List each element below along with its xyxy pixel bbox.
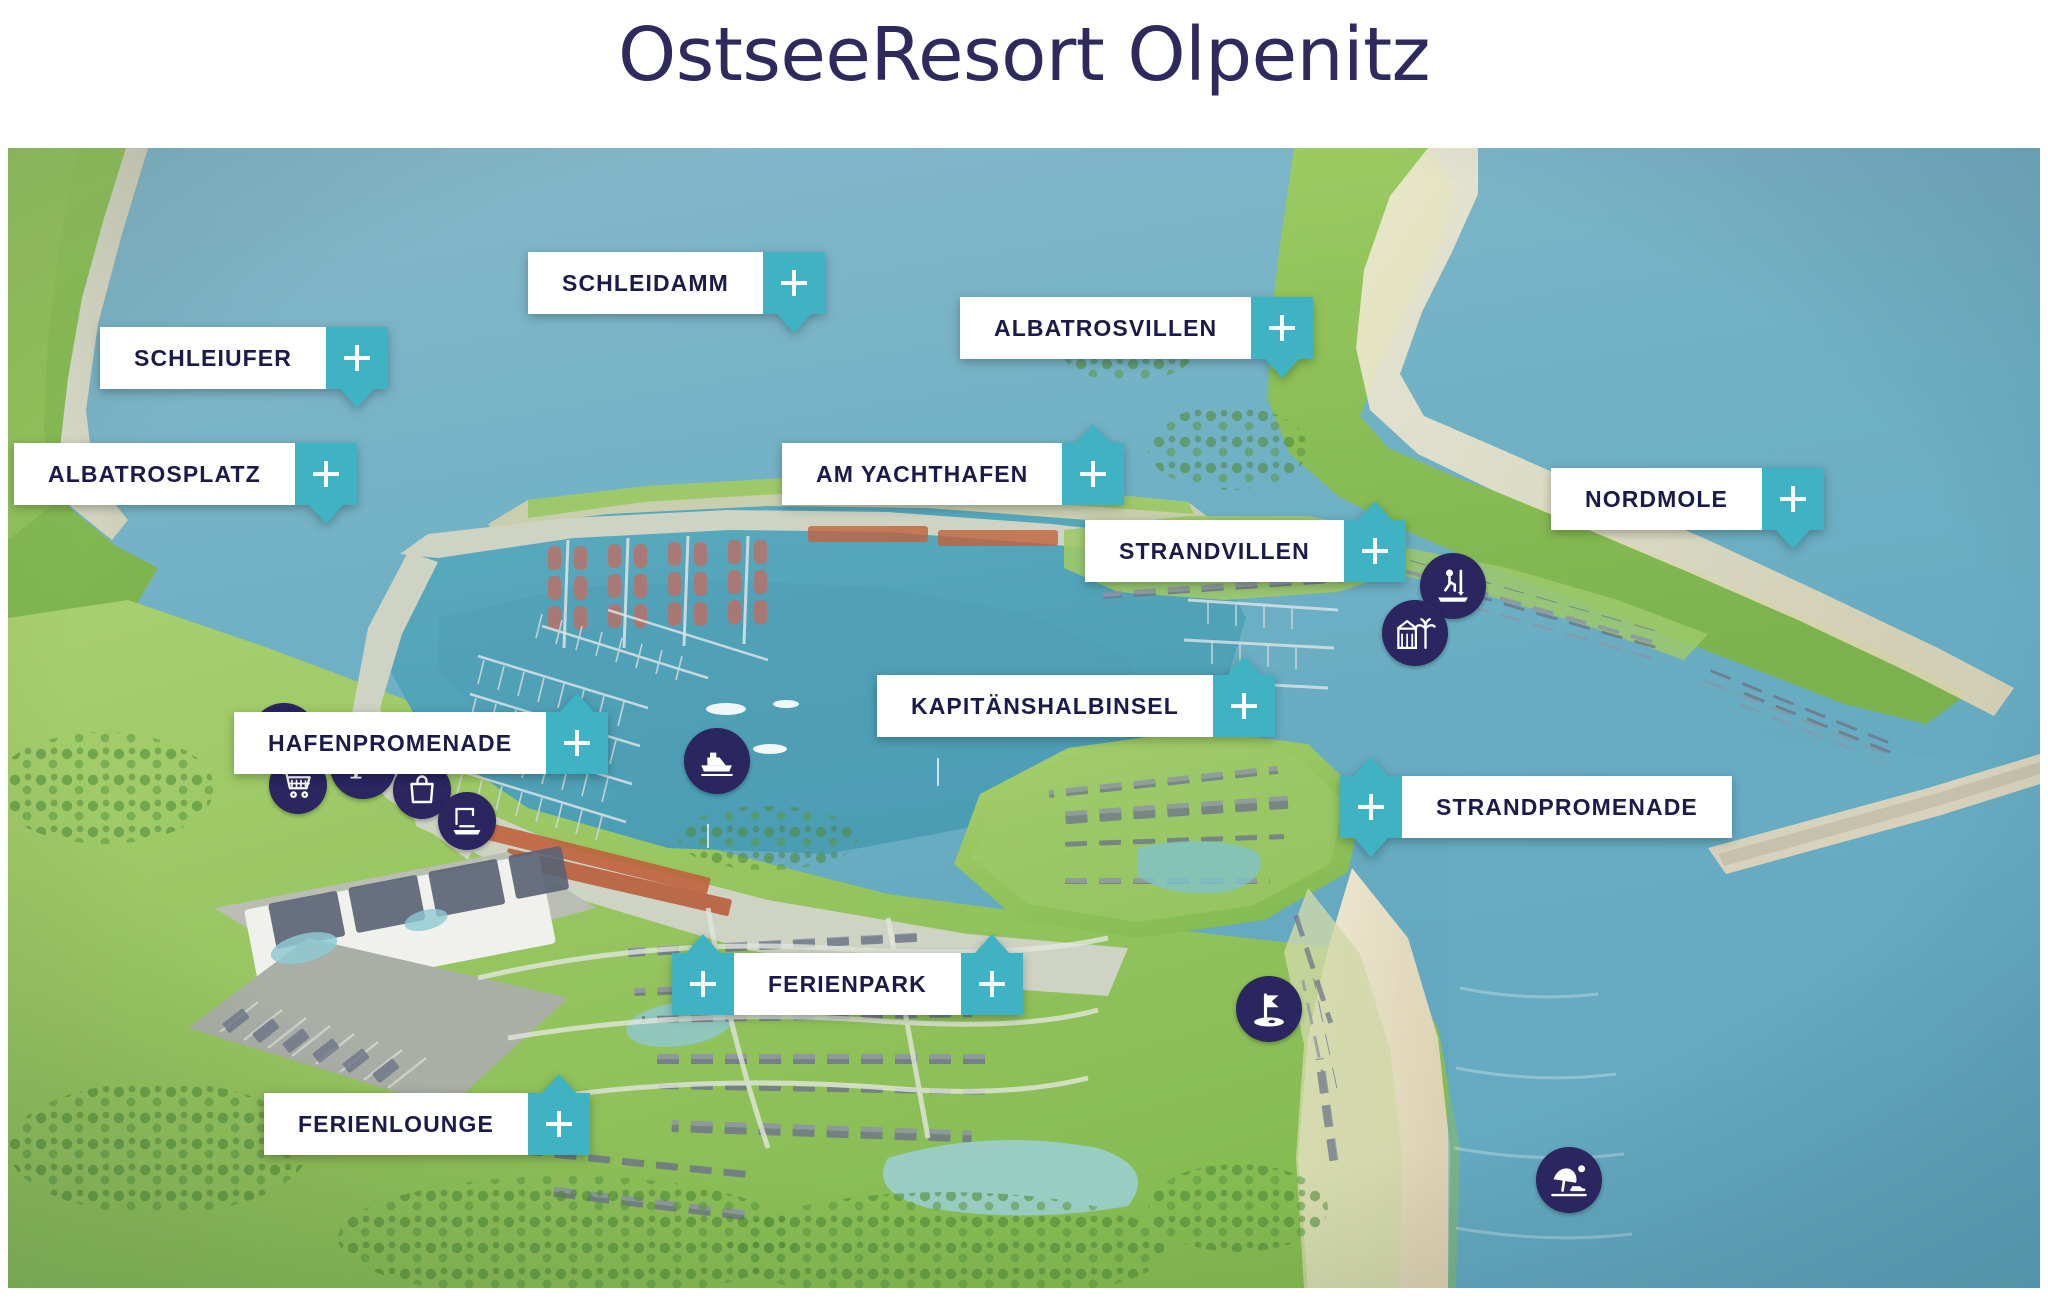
golf-icon[interactable] (1236, 976, 1302, 1042)
boat-crane-icon[interactable] (438, 792, 496, 850)
map-label-kapitaenshalbinsel-plus-button[interactable] (1213, 675, 1275, 737)
beach-icon[interactable] (1536, 1147, 1602, 1213)
resort-map-page: OstseeResort Olpenitz (0, 0, 2048, 1303)
page-title: OstseeResort Olpenitz (0, 18, 2048, 92)
map-label-albatrosplatz[interactable]: ALBATROSPLATZ (14, 443, 357, 505)
map-label-schleiufer-text: SCHLEIUFER (100, 327, 326, 389)
map-label-albatrosplatz-text: ALBATROSPLATZ (14, 443, 295, 505)
map-label-ferienpark-plus-button-right[interactable] (961, 953, 1023, 1015)
map-label-hafenpromenade-text: HAFENPROMENADE (234, 712, 546, 774)
interactive-resort-map[interactable]: F (8, 148, 2040, 1288)
wellness-spa-icon[interactable] (1382, 600, 1448, 666)
map-label-ferienpark-text: FERIENPARK (734, 953, 961, 1015)
map-label-strandpromenade-text: STRANDPROMENADE (1402, 776, 1732, 838)
map-label-nordmole-text: NORDMOLE (1551, 468, 1762, 530)
map-label-albatrosvillen[interactable]: ALBATROSVILLEN (960, 297, 1313, 359)
map-label-kapitaenshalbinsel[interactable]: KAPITÄNSHALBINSEL (877, 675, 1275, 737)
map-label-ferienpark-plus-button-left[interactable] (672, 953, 734, 1015)
map-label-ferienlounge-plus-button[interactable] (528, 1093, 590, 1155)
map-label-am-yachthafen-plus-button[interactable] (1062, 443, 1124, 505)
map-label-schleiufer-plus-button[interactable] (326, 327, 388, 389)
map-label-strandpromenade-plus-button[interactable] (1340, 776, 1402, 838)
map-label-strandpromenade[interactable]: STRANDPROMENADE (1340, 776, 1732, 838)
map-label-schleiufer[interactable]: SCHLEIUFER (100, 327, 388, 389)
map-label-am-yachthafen[interactable]: AM YACHTHAFEN (782, 443, 1124, 505)
map-label-ferienpark[interactable]: FERIENPARK (672, 953, 1023, 1015)
motorboat-icon[interactable] (684, 728, 750, 794)
map-label-kapitaenshalbinsel-text: KAPITÄNSHALBINSEL (877, 675, 1213, 737)
map-label-albatrosvillen-plus-button[interactable] (1251, 297, 1313, 359)
map-label-schleidamm[interactable]: SCHLEIDAMM (528, 252, 825, 314)
map-label-strandvillen-plus-button[interactable] (1344, 520, 1406, 582)
map-label-nordmole-plus-button[interactable] (1762, 468, 1824, 530)
map-label-schleidamm-plus-button[interactable] (763, 252, 825, 314)
map-label-am-yachthafen-text: AM YACHTHAFEN (782, 443, 1062, 505)
map-label-schleidamm-text: SCHLEIDAMM (528, 252, 763, 314)
map-label-hafenpromenade[interactable]: HAFENPROMENADE (234, 712, 608, 774)
map-label-ferienlounge[interactable]: FERIENLOUNGE (264, 1093, 590, 1155)
map-label-albatrosplatz-plus-button[interactable] (295, 443, 357, 505)
map-label-albatrosvillen-text: ALBATROSVILLEN (960, 297, 1251, 359)
map-label-ferienlounge-text: FERIENLOUNGE (264, 1093, 528, 1155)
map-label-strandvillen[interactable]: STRANDVILLEN (1085, 520, 1406, 582)
map-label-strandvillen-text: STRANDVILLEN (1085, 520, 1344, 582)
map-label-nordmole[interactable]: NORDMOLE (1551, 468, 1824, 530)
map-label-hafenpromenade-plus-button[interactable] (546, 712, 608, 774)
